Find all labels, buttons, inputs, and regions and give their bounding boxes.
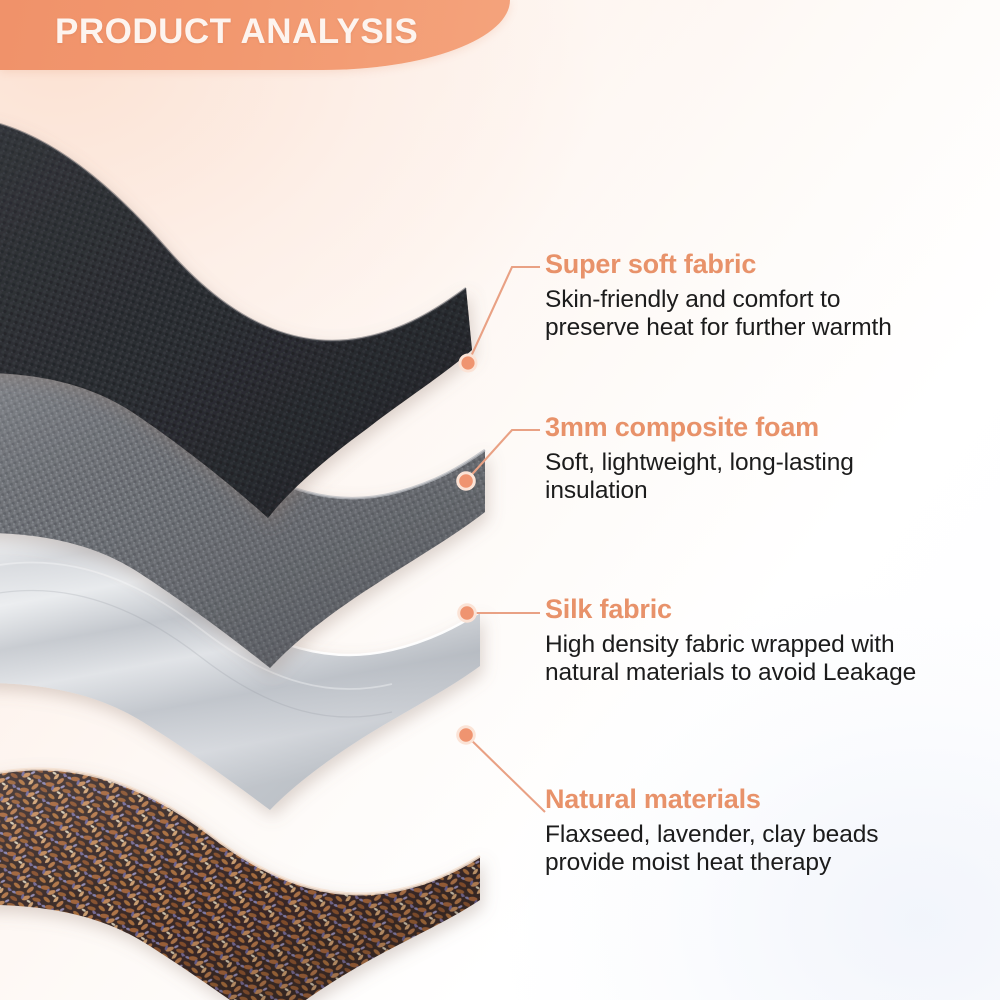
callout-title-2: 3mm composite foam (545, 413, 854, 443)
page-title: PRODUCT ANALYSIS (55, 12, 418, 52)
callout-desc-3: High density fabric wrapped with natural… (545, 631, 916, 688)
callout-desc-4: Flaxseed, lavender, clay beads provide m… (545, 821, 878, 878)
product-analysis-infographic: PRODUCT ANALYSIS (0, 0, 1000, 1000)
callout-title-4: Natural materials (545, 785, 878, 815)
product-layer-stack (0, 100, 540, 940)
callout-desc-1: Skin-friendly and comfort to preserve he… (545, 286, 892, 343)
callout-title-1: Super soft fabric (545, 250, 892, 280)
callout-natural-materials: Natural materials Flaxseed, lavender, cl… (545, 785, 878, 878)
callout-silk-fabric: Silk fabric High density fabric wrapped … (545, 595, 916, 688)
callout-title-3: Silk fabric (545, 595, 916, 625)
callout-composite-foam: 3mm composite foam Soft, lightweight, lo… (545, 413, 854, 506)
callout-desc-2: Soft, lightweight, long-lasting insulati… (545, 449, 854, 506)
callout-super-soft-fabric: Super soft fabric Skin-friendly and comf… (545, 250, 892, 343)
